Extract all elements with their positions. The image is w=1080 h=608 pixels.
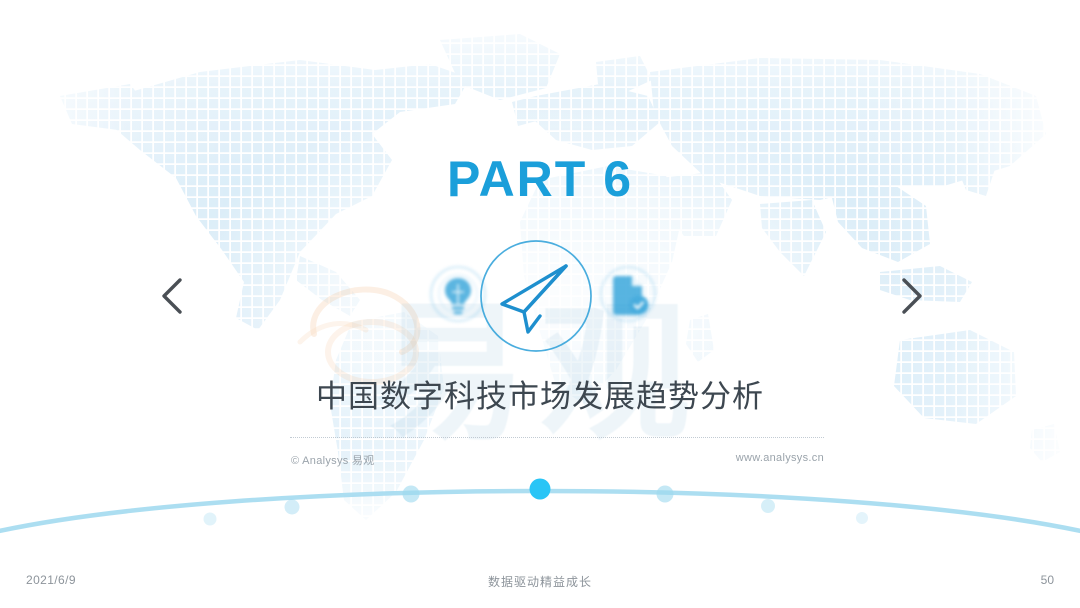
- next-slide-button[interactable]: [890, 270, 934, 322]
- progress-dot-active[interactable]: [530, 479, 551, 500]
- progress-dot[interactable]: [657, 486, 674, 503]
- page-title: PART 6: [0, 150, 1080, 208]
- progress-dot[interactable]: [856, 512, 868, 524]
- progress-dot[interactable]: [204, 513, 217, 526]
- slide-subtitle: 中国数字科技市场发展趋势分析: [0, 371, 1080, 416]
- footer-tagline: 数据驱动精益成长: [0, 573, 1080, 590]
- progress-dot[interactable]: [285, 500, 300, 515]
- credit-divider: [290, 437, 824, 438]
- slide-canvas: 易观 PART 6: [0, 0, 1080, 608]
- icon-cluster: [418, 238, 668, 354]
- prev-slide-button[interactable]: [150, 270, 194, 322]
- footer-page-number: 50: [1041, 573, 1054, 587]
- copyright-label: © Analysys 易观: [291, 452, 375, 468]
- progress-dot[interactable]: [403, 486, 420, 503]
- paper-plane-icon: [478, 238, 594, 354]
- website-label[interactable]: www.analysys.cn: [624, 452, 824, 464]
- progress-dot[interactable]: [761, 499, 775, 513]
- document-check-icon: [596, 262, 660, 326]
- progress-arc: [0, 455, 1080, 555]
